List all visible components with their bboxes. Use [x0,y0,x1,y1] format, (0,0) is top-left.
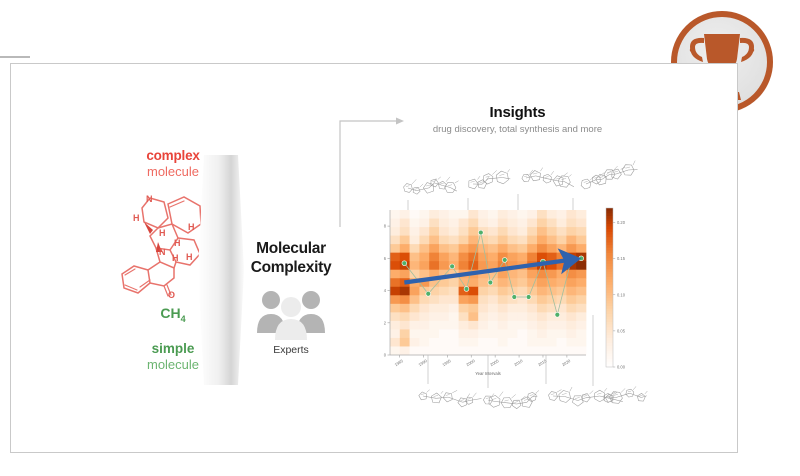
three-people-icon [255,288,327,340]
molecule-sketch [469,169,511,189]
colorbar-segment [606,285,613,288]
formula-base: CH [160,305,180,321]
heatmap-cell [478,338,488,347]
heatmap-cell [459,321,469,330]
heatmap-cell [419,261,429,270]
colorbar-segment [606,213,613,216]
heatmap-cell [576,261,586,270]
heatmap-cell [566,321,576,330]
heatmap-cell [400,244,410,253]
heatmap-cell [449,295,459,304]
heatmap-cell [576,295,586,304]
heatmap-cell [429,210,439,219]
heatmap-cell [468,287,478,296]
heatmap-cell [410,210,420,219]
colorbar-segment [606,282,613,285]
svg-text:H: H [159,228,166,238]
heatmap-cell [439,338,449,347]
heatmap-cell [449,210,459,219]
heatmap-cell [547,338,557,347]
molecule-sketch [404,177,459,194]
colorbar: 0.000.050.100.150.20 [606,208,626,370]
molecule-sketch [419,390,482,407]
colorbar-segment [606,248,613,251]
heatmap-cell [557,346,567,355]
heatmap-cell [557,210,567,219]
heatmap-cell [537,346,547,355]
colorbar-segment [606,256,613,259]
heatmap-cell [429,321,439,330]
heatmap-cell [410,338,420,347]
heatmap-cell [410,312,420,321]
y-tick-label: 2 [384,320,387,325]
heatmap-cell [410,295,420,304]
heatmap-cell [478,321,488,330]
heatmap-cell [390,287,400,296]
heatmap-cell [439,304,449,313]
heatmap-cell [419,329,429,338]
heatmap-cell [537,244,547,253]
colorbar-segment [606,338,613,341]
heatmap-cell [400,227,410,236]
heatmap-cell [449,287,459,296]
heatmap-cell [576,321,586,330]
heatmap-cell [488,329,498,338]
x-tick-label: 1990 [417,358,428,367]
colorbar-segment [606,264,613,267]
heatmap-cell [390,304,400,313]
heatmap-cell [478,346,488,355]
heatmap-cell [400,338,410,347]
heatmap-cell [498,210,508,219]
heatmap-cell [419,253,429,262]
heatmap-cell [488,287,498,296]
colorbar-segment [606,335,613,338]
heatmap-cell [478,312,488,321]
heatmap-cell [390,253,400,262]
heatmap-cell [498,236,508,245]
heatmap-cell [527,253,537,262]
svg-text:H: H [172,253,179,263]
y-tick-label: 6 [384,256,387,261]
heatmap-cell [537,236,547,245]
heatmap-cell [439,329,449,338]
heatmap-cell [478,329,488,338]
heatmap-cell [508,210,518,219]
heatmap-cell [527,321,537,330]
heatmap-cell [400,321,410,330]
heatmap-cell [547,329,557,338]
colorbar-segment [606,314,613,317]
heatmap-cell [537,329,547,338]
heatmap-cell [566,219,576,228]
heatmap-cell [419,304,429,313]
svg-text:H: H [188,222,195,232]
heatmap-cell [468,227,478,236]
heatmap-cell [429,295,439,304]
heatmap-cell [459,312,469,321]
colorbar-segment [606,277,613,280]
heatmap-cell [400,346,410,355]
colorbar-segment [606,319,613,322]
heatmap-cell [429,227,439,236]
heatmap-cell [390,261,400,270]
heatmap-cell [449,329,459,338]
heatmap-cell [527,346,537,355]
heatmap-cell [400,295,410,304]
heatmap-cell [517,287,527,296]
heatmap-cell [498,329,508,338]
y-tick-label: 0 [384,353,387,358]
heatmap-cell [439,321,449,330]
heatmap-cell [410,244,420,253]
heatmap-cell [498,244,508,253]
heatmap-cell [449,338,459,347]
colorbar-segment [606,253,613,256]
heatmap-cell [576,270,586,279]
overlay-marker [512,295,517,300]
heatmap-cell [459,210,469,219]
heatmap-cell [468,346,478,355]
heatmap-cell [449,227,459,236]
heatmap-cell [498,278,508,287]
colorbar-segment [606,269,613,272]
heatmap-cell [566,236,576,245]
heatmap-cell [468,329,478,338]
heatmap-cell [557,321,567,330]
heatmap-cell [478,287,488,296]
heatmap-cell [537,338,547,347]
heatmap-cell [439,244,449,253]
overlay-marker [526,295,531,300]
heatmap-cell [537,219,547,228]
heatmap-cell [517,253,527,262]
heatmap-cell [576,312,586,321]
heatmap-cell [468,278,478,287]
heatmap-cell [419,321,429,330]
colorbar-segment [606,280,613,283]
heatmap-cell [419,210,429,219]
colorbar-segment [606,356,613,359]
heatmap-cell [557,270,567,279]
heatmap-cell [400,287,410,296]
colorbar-segment [606,327,613,330]
colorbar-segment [606,301,613,304]
heatmap-cell [429,219,439,228]
heatmap-cell [439,287,449,296]
heatmap-cell [449,219,459,228]
x-tick-label: 2000 [465,358,476,367]
heatmap-cell [557,219,567,228]
colorbar-segment [606,346,613,349]
colorbar-segment [606,245,613,248]
heatmap-cell [547,244,557,253]
colorbar-tick-label: 0.15 [617,256,626,261]
heatmap-cell [508,338,518,347]
colorbar-segment [606,362,613,365]
colorbar-segment [606,250,613,253]
heatmap-cell [498,304,508,313]
colorbar-tick-label: 0.10 [617,292,626,297]
heatmap-cell [410,270,420,279]
heatmap-cell [468,338,478,347]
colorbar-segment [606,229,613,232]
heatmap-cell [498,321,508,330]
heatmap-cell [537,312,547,321]
heatmap-cell [419,312,429,321]
heatmap-cell [537,304,547,313]
colorbar-segment [606,309,613,312]
heatmap-cell [410,236,420,245]
heatmap-cell [566,287,576,296]
heatmap-cell [459,295,469,304]
heatmap-cell [410,287,420,296]
heatmap-cell [537,295,547,304]
heatmap-cell [576,210,586,219]
heatmap-cell [576,329,586,338]
heatmap-cell [557,236,567,245]
heatmap-cell [576,236,586,245]
experts-label: Experts [232,344,350,356]
heatmap-cell [498,295,508,304]
colorbar-segment [606,295,613,298]
heatmap-cell [468,304,478,313]
insights-subheading: drug discovery, total synthesis and more [385,124,650,135]
heatmap-cell [557,227,567,236]
colorbar-segment [606,219,613,222]
heatmap-cell [517,244,527,253]
heatmap-cell [517,312,527,321]
colorbar-segment [606,221,613,224]
colorbar-segment [606,216,613,219]
heatmap-cell [566,329,576,338]
heatmap-cell [449,278,459,287]
heatmap-cell [390,219,400,228]
heatmap-cell [576,287,586,296]
molecule-callouts-top [404,161,638,195]
x-tick-label: 1985 [394,358,405,367]
heatmap-cell [468,312,478,321]
heatmap-cell [498,219,508,228]
heatmap-cell [508,304,518,313]
heatmap-cell [547,295,557,304]
heatmap-cell [410,321,420,330]
heatmap-cell [488,210,498,219]
heatmap-cell [459,338,469,347]
colorbar-segment [606,322,613,325]
heatmap-cell [400,236,410,245]
heatmap-cell [527,329,537,338]
colorbar-segment [606,343,613,346]
figure-canvas: complex molecule [0,0,800,476]
heatmap-cell [557,329,567,338]
heatmap-cell [576,244,586,253]
heatmap-cell [508,253,518,262]
colorbar-segment [606,359,613,362]
heatmap-cell [419,338,429,347]
colorbar-segment [606,237,613,240]
heatmap-cell [468,236,478,245]
heatmap-cell [468,210,478,219]
heatmap-cell [537,210,547,219]
colorbar-segment [606,211,613,214]
heatmap-cell [439,346,449,355]
colorbar-tick-label: 0.05 [617,328,626,333]
svg-text:N: N [146,194,153,204]
heatmap-cell [527,338,537,347]
heatmap-cell [488,295,498,304]
heatmap-cell [449,244,459,253]
heatmap-cell [498,227,508,236]
heatmap-cell [390,210,400,219]
heatmap-cell [498,312,508,321]
x-tick-label: 1995 [441,358,452,367]
heatmap-cell [537,321,547,330]
heatmap-cell [488,304,498,313]
colorbar-segment [606,224,613,227]
heatmap-cell [566,210,576,219]
colorbar-segment [606,232,613,235]
heatmap-cell [400,219,410,228]
colorbar-segment [606,235,613,238]
heatmap-cell [576,338,586,347]
heatmap-cell [517,210,527,219]
heatmap-cell [566,295,576,304]
heatmap-cell [468,321,478,330]
heatmap-cell [517,227,527,236]
heatmap-cell [390,227,400,236]
colorbar-segment [606,293,613,296]
heatmap-cell [459,219,469,228]
heatmap-cell [419,219,429,228]
x-tick-label: 2020 [561,358,572,367]
heatmap-cell [429,244,439,253]
heatmap-cell [419,236,429,245]
heatmap-cell [517,338,527,347]
heatmap-cell [419,244,429,253]
y-tick-label: 8 [384,224,387,229]
heatmap-cell [478,253,488,262]
colorbar-segment [606,333,613,336]
colorbar-tick-label: 0.00 [617,365,626,370]
heatmap-cell [508,219,518,228]
heatmap-cell [488,236,498,245]
heatmap-cell [576,219,586,228]
heatmap-cell [429,346,439,355]
heatmap-cell [517,219,527,228]
molecule-callouts-bottom [419,386,648,408]
heatmap-cell [429,253,439,262]
heatmap-cell [547,210,557,219]
overlay-marker [450,264,455,269]
heatmap-cell [410,304,420,313]
heatmap-cell [410,227,420,236]
heatmap-cell [439,312,449,321]
heatmap-cell [488,219,498,228]
heatmap-cell [566,244,576,253]
colorbar-segment [606,348,613,351]
heatmap-cell [488,312,498,321]
heatmap-cell [478,219,488,228]
colorbar-segment [606,288,613,291]
colorbar-segment [606,242,613,245]
heatmap-cell [449,253,459,262]
heatmap-cell [459,236,469,245]
heatmap-cell [527,304,537,313]
colorbar-segment [606,266,613,269]
heatmap-cell [449,346,459,355]
heatmap-cell [400,329,410,338]
svg-text:H: H [133,213,140,223]
heatmap-cell [508,321,518,330]
heatmap-cell [439,261,449,270]
heatmap-cell [508,312,518,321]
heatmap-cell [478,278,488,287]
colorbar-segment [606,351,613,354]
heatmap-cell [410,253,420,262]
heatmap-cell [429,338,439,347]
heatmap-cell [566,304,576,313]
title-line-2: Complexity [251,259,332,276]
overlay-marker [488,280,493,285]
heatmap-cell [557,338,567,347]
molecule-sketch [604,386,647,403]
heatmap-cell [400,304,410,313]
heatmap-cell [459,304,469,313]
heatmap-cell [390,278,400,287]
overlay-marker [478,230,483,235]
formula-subscript: 4 [181,314,186,324]
heatmap-cell [527,244,537,253]
heatmap-cell [478,295,488,304]
heatmap-cell [390,244,400,253]
heatmap-cell [488,227,498,236]
title-line-1: Molecular [256,240,326,257]
heatmap-cell [390,236,400,245]
overlay-marker [426,291,431,296]
colorbar-tick-label: 0.20 [617,220,626,225]
heatmap-cell [488,321,498,330]
heatmap-cell [390,270,400,279]
heatmap-cell [439,219,449,228]
overlay-marker [464,287,469,292]
colorbar-segment [606,317,613,320]
heatmap-cell [517,304,527,313]
heatmap-cell [459,227,469,236]
heatmap-cell [508,227,518,236]
colorbar-segment [606,298,613,301]
heatmap-cell [390,321,400,330]
x-axis-label: Year Intervals [475,371,500,376]
heatmap-cell [527,219,537,228]
heatmap-cell [517,236,527,245]
heatmap-cell [410,219,420,228]
heatmap-cell [390,295,400,304]
y-tick-label: 4 [384,288,387,293]
heatmap-cell [400,253,410,262]
heatmap-cell [419,346,429,355]
heatmap-cell [459,253,469,262]
heatmap-cell [517,278,527,287]
heatmap-cell [449,236,459,245]
heatmap-cell [468,295,478,304]
heatmap-cell [537,287,547,296]
heatmap-cell [488,346,498,355]
heatmap-cell [508,329,518,338]
heatmap-cell [410,329,420,338]
colorbar-segment [606,258,613,261]
heatmap-cell [557,287,567,296]
